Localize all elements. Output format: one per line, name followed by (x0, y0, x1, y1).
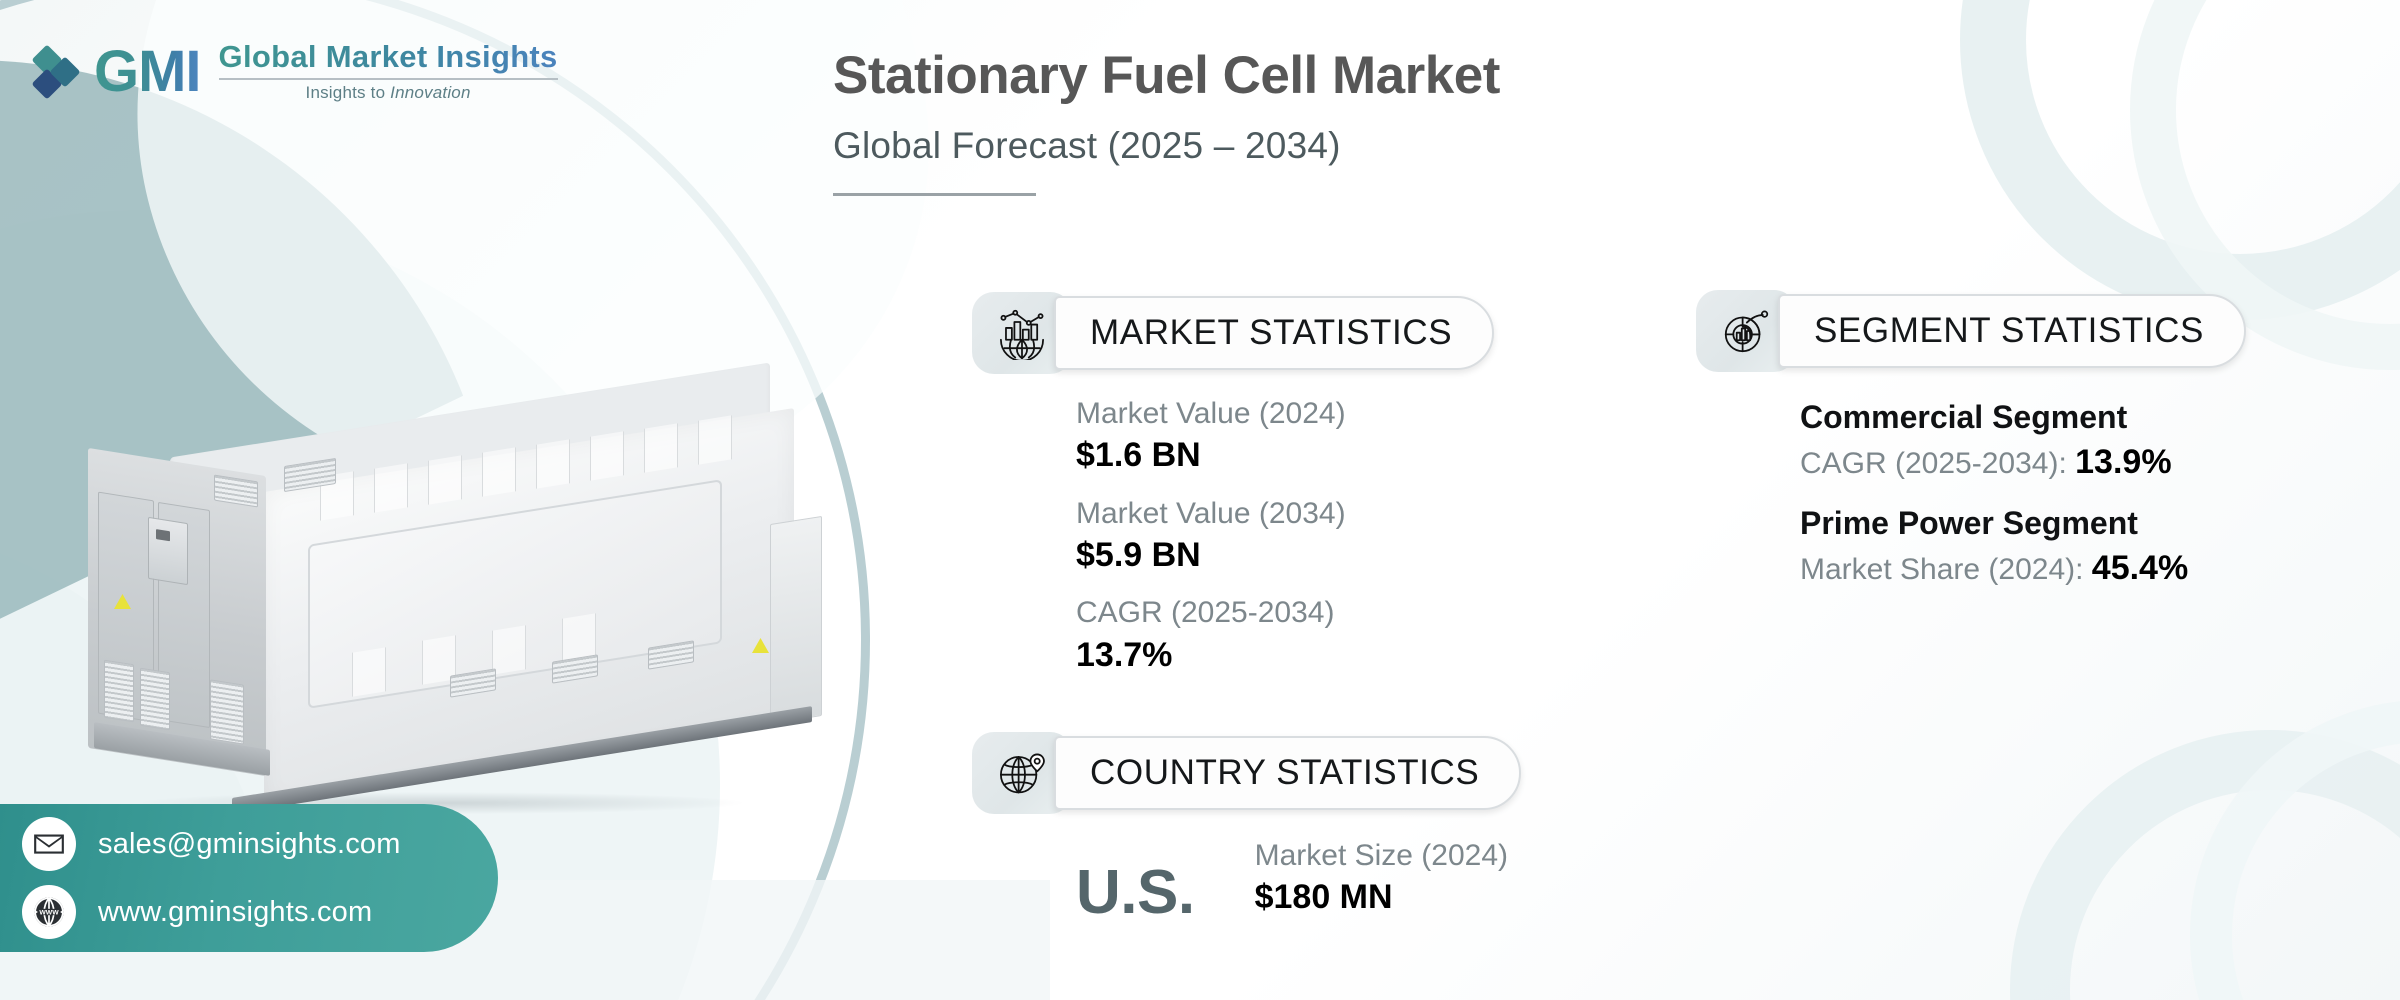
segment-statistics-list: Commercial Segment CAGR (2025-2034): 13.… (1800, 396, 2246, 592)
country-statistics-panel: COUNTRY STATISTICS U.S. Market Size (202… (972, 732, 1521, 924)
page-subtitle: Global Forecast (2025 – 2034) (833, 125, 1500, 167)
segment-title: Commercial Segment (1800, 396, 2246, 439)
svg-text:WWW: WWW (39, 910, 59, 917)
product-image (52, 400, 832, 820)
title-block: Stationary Fuel Cell Market Global Forec… (833, 46, 1500, 196)
infographic-canvas: GMI Global Market Insights Insights to I… (0, 0, 2400, 1000)
segment-title: Prime Power Segment (1800, 502, 2246, 545)
background-ring-top-right (1960, 0, 2400, 320)
stat-group: Market Value (2024) $1.6 BN (1076, 394, 1494, 478)
logo-tagline-prefix: Insights to (306, 83, 391, 102)
envelope-icon (22, 817, 76, 871)
contact-website-row[interactable]: WWW www.gminsights.com (22, 885, 498, 939)
segment-statistics-panel: SEGMENT STATISTICS Commercial Segment CA… (1696, 290, 2246, 608)
title-underline (833, 193, 1036, 196)
stat-value: $1.6 BN (1076, 434, 1494, 478)
globe-www-icon: WWW (22, 885, 76, 939)
logo-tagline-italic: Innovation (390, 83, 470, 102)
contact-email: sales@gminsights.com (98, 828, 401, 861)
logo-company-name: Global Market Insights (219, 40, 558, 74)
segment-metric: Market Share (2024): 45.4% (1800, 545, 2246, 592)
segment-metric-key: CAGR (2025-2034): (1800, 447, 2075, 480)
market-statistics-label: MARKET STATISTICS (1090, 313, 1452, 353)
country-statistics-label: COUNTRY STATISTICS (1090, 753, 1479, 793)
stat-key: Market Value (2024) (1076, 394, 1494, 434)
segment-metric-key: Market Share (2024): (1800, 553, 2092, 586)
logo-initials: GMI (94, 43, 201, 101)
contact-website: www.gminsights.com (98, 896, 372, 929)
background-ring-bottom-right-2 (2190, 700, 2400, 1000)
background-ring-bottom-right (2010, 730, 2400, 1000)
segment-metric-value: 13.9% (2075, 443, 2171, 481)
contact-email-row[interactable]: sales@gminsights.com (22, 817, 498, 871)
stat-key: Market Value (2034) (1076, 494, 1494, 534)
stat-group: Market Value (2034) $5.9 BN (1076, 494, 1494, 578)
market-statistics-panel: MARKET STATISTICS Market Value (2024) $1… (972, 292, 1494, 693)
country-name: U.S. (1076, 862, 1195, 924)
market-statistics-list: Market Value (2024) $1.6 BN Market Value… (1076, 394, 1494, 677)
gmi-logo[interactable]: GMI Global Market Insights Insights to I… (34, 40, 558, 103)
country-statistics-body: U.S. Market Size (2024) $180 MN (1076, 836, 1521, 924)
page-title: Stationary Fuel Cell Market (833, 46, 1500, 107)
stat-value: $180 MN (1255, 876, 1508, 920)
stat-value: $5.9 BN (1076, 534, 1494, 578)
stat-group: Commercial Segment CAGR (2025-2034): 13.… (1800, 396, 2246, 486)
country-statistics-pill[interactable]: COUNTRY STATISTICS (1054, 736, 1521, 810)
stat-key: Market Size (2024) (1255, 836, 1508, 876)
stat-group: CAGR (2025-2034) 13.7% (1076, 593, 1494, 677)
logo-divider (219, 78, 558, 80)
stat-group: Prime Power Segment Market Share (2024):… (1800, 502, 2246, 592)
segment-metric: CAGR (2025-2034): 13.9% (1800, 439, 2246, 486)
segment-statistics-label: SEGMENT STATISTICS (1814, 311, 2204, 351)
logo-tagline: Insights to Innovation (219, 83, 558, 103)
segment-statistics-pill[interactable]: SEGMENT STATISTICS (1778, 294, 2246, 368)
segment-metric-value: 45.4% (2092, 549, 2188, 587)
diamond-logo-mark-icon (34, 41, 80, 103)
market-statistics-pill[interactable]: MARKET STATISTICS (1054, 296, 1494, 370)
country-figures: Market Size (2024) $180 MN (1255, 836, 1508, 924)
stat-value: 13.7% (1076, 634, 1494, 678)
stat-key: CAGR (2025-2034) (1076, 593, 1494, 633)
contact-bar: sales@gminsights.com WWW www.gminsights.… (0, 804, 498, 952)
